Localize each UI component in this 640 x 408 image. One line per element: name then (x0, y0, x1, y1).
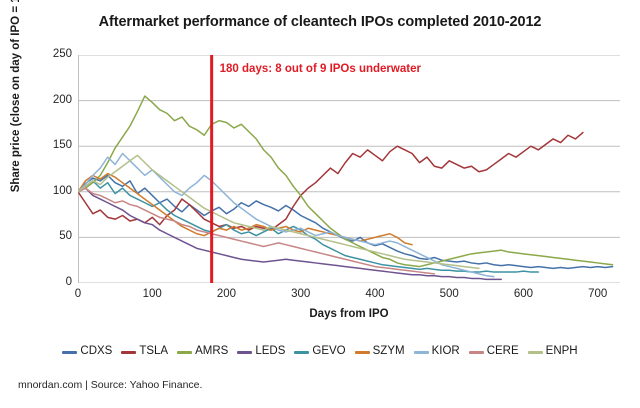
legend-label: TSLA (139, 346, 168, 358)
underwater-annotation-label: 180 days: 8 out of 9 IPOs underwater (220, 63, 421, 75)
legend-swatch-icon (237, 351, 252, 354)
legend-swatch-icon (469, 351, 484, 354)
x-tick-label: 300 (281, 288, 321, 300)
chart-title: Aftermarket performance of cleantech IPO… (0, 14, 640, 30)
x-axis-tick-labels: 0100200300400500600700 (0, 288, 640, 306)
legend-label: LEDS (255, 346, 285, 358)
y-axis-tick-labels: 050100150200250 (40, 48, 72, 290)
legend-swatch-icon (177, 351, 192, 354)
legend-swatch-icon (355, 351, 370, 354)
y-tick-label: 0 (40, 277, 72, 289)
y-tick-label: 200 (40, 95, 72, 107)
legend-item-amrs[interactable]: AMRS (177, 346, 228, 358)
x-tick-label: 0 (58, 288, 98, 300)
y-axis-title: Share price (close on day of IPO = 100) (10, 0, 22, 206)
legend-label: CERE (487, 346, 519, 358)
x-tick-label: 400 (355, 288, 395, 300)
legend-label: ENPH (546, 346, 578, 358)
chart-container: Aftermarket performance of cleantech IPO… (0, 0, 640, 408)
series-line-enph (78, 155, 479, 268)
series-line-tsla (78, 133, 583, 231)
legend-item-cere[interactable]: CERE (469, 346, 519, 358)
legend-label: CDXS (80, 346, 112, 358)
y-tick-label: 150 (40, 140, 72, 152)
x-axis-title: Days from IPO (78, 308, 620, 320)
y-tick-label: 250 (40, 49, 72, 61)
chart-legend: CDXSTSLAAMRSLEDSGEVOSZYMKIORCEREENPH (0, 341, 640, 363)
series-line-gevo (78, 181, 538, 272)
x-tick-label: 700 (578, 288, 618, 300)
legend-swatch-icon (294, 351, 309, 354)
y-tick-label: 100 (40, 186, 72, 198)
footer-source-note: mnordan.com | Source: Yahoo Finance. (18, 379, 202, 391)
x-tick-label: 500 (429, 288, 469, 300)
legend-item-kior[interactable]: KIOR (414, 346, 460, 358)
legend-swatch-icon (528, 351, 543, 354)
series-plot (78, 55, 620, 283)
legend-label: SZYM (373, 346, 405, 358)
legend-item-szym[interactable]: SZYM (355, 346, 405, 358)
legend-item-cdxs[interactable]: CDXS (62, 346, 112, 358)
legend-swatch-icon (62, 351, 77, 354)
legend-label: KIOR (432, 346, 460, 358)
legend-label: AMRS (195, 346, 228, 358)
y-tick-label: 50 (40, 231, 72, 243)
legend-swatch-icon (121, 351, 136, 354)
x-tick-label: 200 (206, 288, 246, 300)
legend-swatch-icon (414, 351, 429, 354)
x-tick-label: 100 (132, 288, 172, 300)
legend-item-tsla[interactable]: TSLA (121, 346, 168, 358)
legend-item-gevo[interactable]: GEVO (294, 346, 345, 358)
series-line-amrs (78, 96, 613, 267)
series-line-szym (78, 174, 412, 245)
footer-divider (0, 370, 640, 371)
legend-item-leds[interactable]: LEDS (237, 346, 285, 358)
legend-label: GEVO (312, 346, 345, 358)
x-tick-label: 600 (503, 288, 543, 300)
plot-area (78, 55, 620, 283)
legend-item-enph[interactable]: ENPH (528, 346, 578, 358)
